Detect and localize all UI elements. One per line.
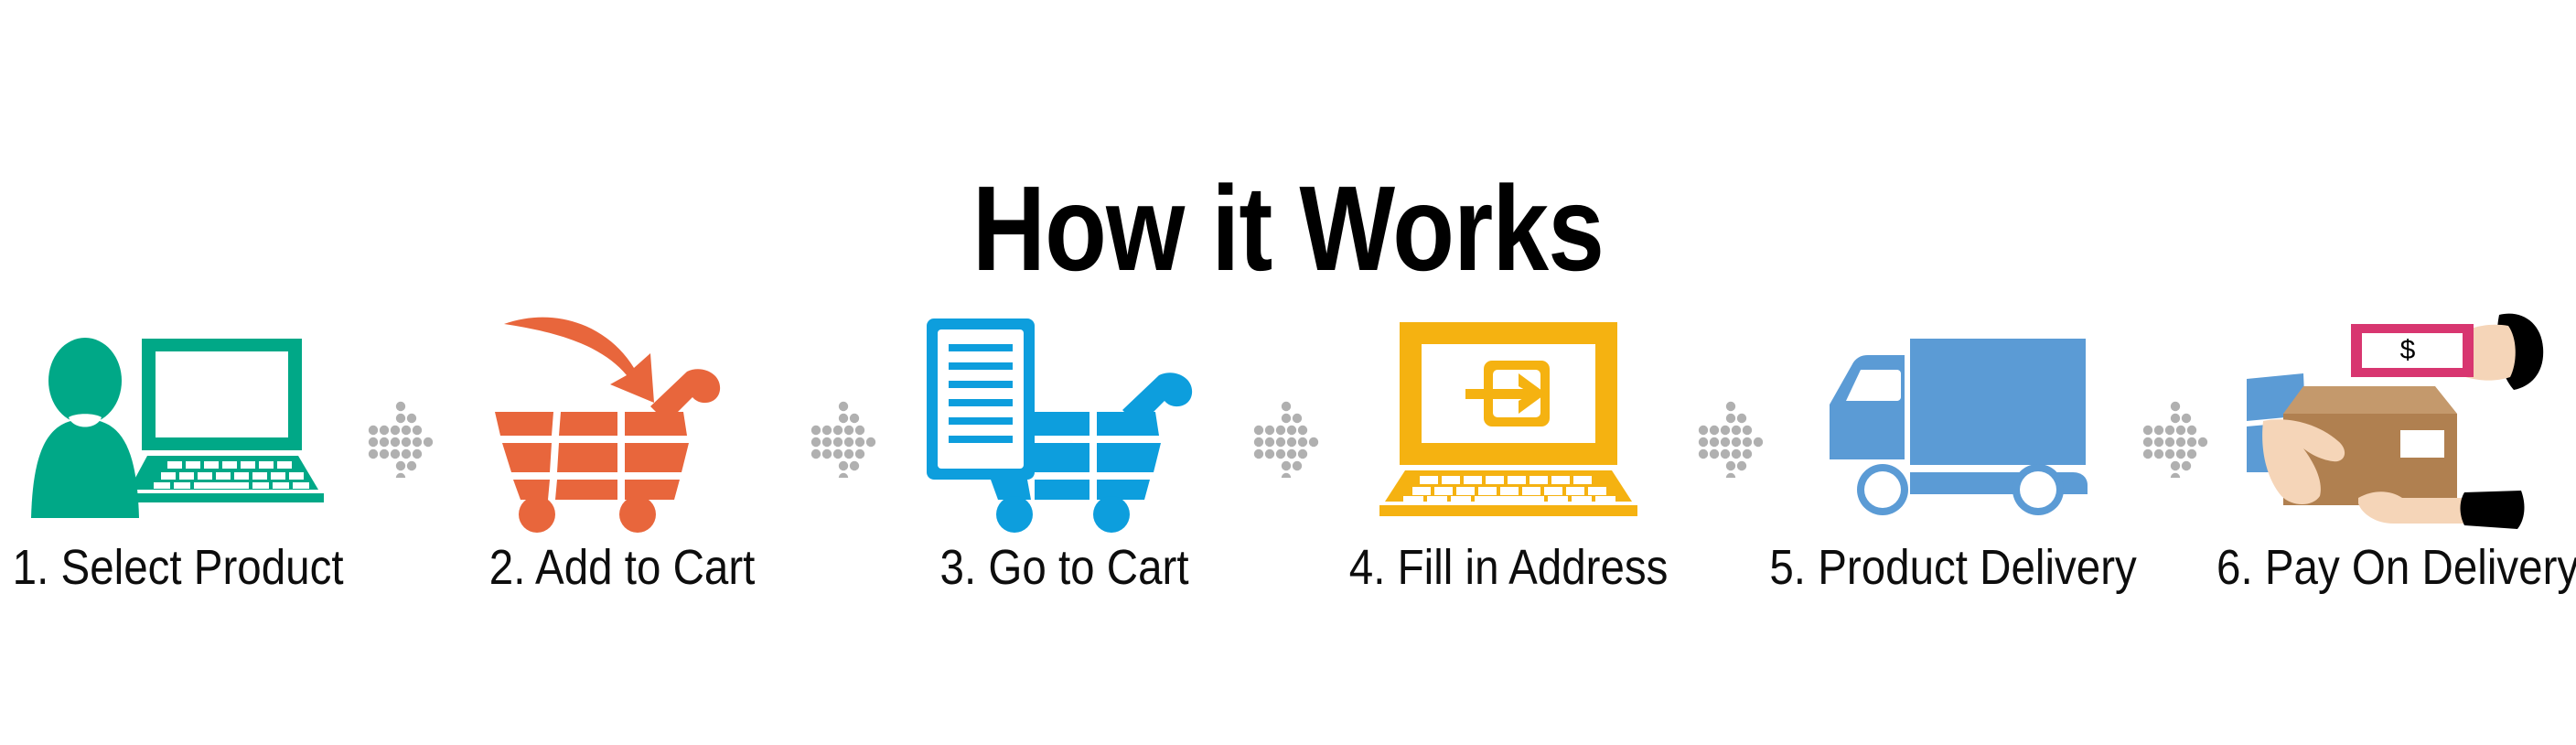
step-product-delivery[interactable]: 5. Product Delivery: [1775, 302, 2131, 668]
step-4-label: 4. Fill in Address: [1349, 542, 1669, 594]
step-add-to-cart[interactable]: 2. Add to Cart: [445, 302, 800, 668]
person-with-laptop-icon: [27, 302, 329, 522]
step-5-artwork: [1802, 302, 2104, 522]
step-6-label: 6. Pay On Delivery: [2216, 542, 2576, 594]
step-6-artwork: $: [2247, 302, 2549, 522]
shipping-label: [2400, 430, 2444, 458]
step-pay-on-delivery[interactable]: $ 6. Pay: [2219, 302, 2576, 668]
step-3-artwork: [914, 302, 1216, 522]
laptop-with-login-arrow-icon: [1358, 302, 1659, 522]
black-sleeve-lower: [2461, 491, 2525, 529]
step-fill-in-address[interactable]: 4. Fill in Address: [1330, 302, 1687, 668]
separator-arrow-3: [1242, 302, 1330, 668]
cash-on-delivery-icon: $: [2247, 302, 2549, 522]
dotted-arrow-right-icon: [810, 401, 876, 478]
step-go-to-cart[interactable]: 3. Go to Cart: [887, 302, 1242, 668]
separator-arrow-4: [1687, 302, 1775, 668]
separator-arrow-5: [2131, 302, 2219, 668]
dotted-arrow-right-icon: [1253, 401, 1319, 478]
document-with-cart-icon: [914, 302, 1216, 522]
step-1-label: 1. Select Product: [13, 542, 344, 594]
dotted-arrow-right-icon: [2142, 401, 2208, 478]
step-3-label: 3. Go to Cart: [940, 542, 1189, 594]
step-4-artwork: [1358, 302, 1659, 522]
box-lid: [2283, 386, 2457, 414]
delivery-truck-icon: [1802, 302, 2104, 522]
dotted-arrow-right-icon: [1698, 401, 1764, 478]
step-2-artwork: [471, 302, 773, 522]
how-it-works-infographic: How it Works: [0, 0, 2576, 745]
separator-arrow-2: [800, 302, 887, 668]
separator-arrow-1: [357, 302, 445, 668]
dollar-symbol: $: [2400, 335, 2416, 365]
step-2-label: 2. Add to Cart: [489, 542, 756, 594]
step-select-product[interactable]: 1. Select Product: [0, 302, 357, 668]
steps-row: 1. Select Product: [0, 302, 2576, 668]
page-title: How it Works: [206, 168, 2369, 289]
shopping-cart-with-arrow-icon: [471, 302, 773, 522]
step-1-artwork: [27, 302, 329, 522]
dotted-arrow-right-icon: [368, 401, 434, 478]
step-5-label: 5. Product Delivery: [1769, 542, 2136, 594]
